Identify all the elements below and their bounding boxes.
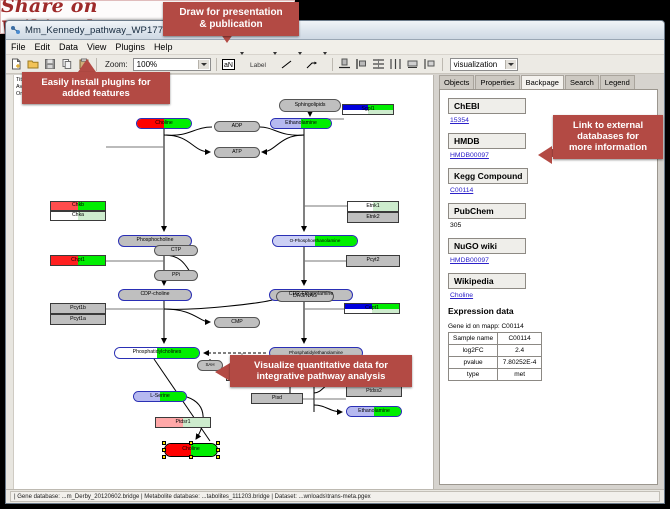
pathway-node-phosphatidylcholines[interactable]: Phosphatidylcholines <box>114 347 200 359</box>
xref-title-pubchem: PubChem <box>448 203 526 219</box>
selection-handle[interactable] <box>216 455 220 459</box>
title-bar: Mm_Kennedy_pathway_WP1771_45176.gpml <box>6 21 664 40</box>
pathway-node-ptdsr1[interactable]: Ptdsr1 <box>155 417 211 428</box>
gene-id-line: Gene id on mapp: C00114 <box>448 323 649 330</box>
pathway-node-label: Ethanolamine <box>358 409 390 414</box>
pathway-node-ethanolamine-br[interactable]: Ethanolamine <box>346 406 402 417</box>
visualization-value: visualization <box>454 60 498 69</box>
menu-plugins[interactable]: Plugins <box>115 42 145 52</box>
expression-key: type <box>449 369 498 381</box>
menu-data[interactable]: Data <box>59 42 78 52</box>
callout-viz-arrow <box>215 363 230 381</box>
pathvisio-app-icon <box>10 25 21 36</box>
pathway-node-l-serine-left[interactable]: L-Serine <box>133 391 187 402</box>
pathway-node-ethanolamine[interactable]: Ethanolamine <box>270 118 332 129</box>
pathway-node-label: SAH <box>205 363 214 367</box>
pathway-diagram[interactable]: SphingolipidsCholineEthanolamineSgpl1ADP… <box>14 75 434 489</box>
svg-text:Label: Label <box>250 62 266 69</box>
pathway-node-label: Choline <box>155 121 173 126</box>
line-dropdown-icon[interactable] <box>297 55 302 73</box>
pathway-canvas[interactable]: Title: Availab Organi <box>6 75 434 489</box>
chevron-down-icon[interactable] <box>198 60 209 69</box>
pathway-node-atp[interactable]: ATP <box>214 147 260 158</box>
datanode-dropdown-icon[interactable] <box>239 55 244 73</box>
label-tool-icon[interactable]: Label <box>247 57 269 71</box>
menu-edit[interactable]: Edit <box>35 42 51 52</box>
svg-text:aN: aN <box>224 62 233 69</box>
pathway-node-label: Ptdsr1 <box>176 420 191 425</box>
expression-value: 2.4 <box>498 345 542 357</box>
pathway-node-label: PPi <box>172 273 180 278</box>
callout-plugins-line1: Easily install plugins for <box>26 77 166 88</box>
datanode-icon[interactable]: aN <box>222 57 236 71</box>
pathway-node-adp[interactable]: ADP <box>214 121 260 132</box>
pathway-node-o-phosphoethanolamine[interactable]: O-Phosphoethanolamine <box>272 235 358 247</box>
menu-help[interactable]: Help <box>154 42 173 52</box>
pathway-node-label: Phosphocholine <box>137 238 174 243</box>
callout-draw-line2: & publication <box>167 19 295 31</box>
expression-row: Sample nameC00114 <box>449 333 542 345</box>
pathway-node-label: Pisd <box>272 396 282 401</box>
callout-link-line3: more information <box>557 142 659 153</box>
pathway-node-chpt1[interactable]: Chpt1 <box>50 255 106 266</box>
callout-link-line1: Link to external <box>557 120 659 131</box>
interaction-dropdown-icon[interactable] <box>322 55 327 73</box>
menu-file[interactable]: File <box>11 42 26 52</box>
pathway-node-pcyt1b[interactable]: Pcyt1b <box>50 303 106 314</box>
expression-value: 7.80252E-4 <box>498 357 542 369</box>
expression-row: log2FC2.4 <box>449 345 542 357</box>
expression-row: pvalue7.80252E-4 <box>449 357 542 369</box>
toolbar-separator-1 <box>96 58 97 71</box>
toolbar-separator-2 <box>216 58 217 71</box>
pathway-node-label: Chpt1 <box>71 258 85 263</box>
line-tool-icon[interactable] <box>280 57 294 71</box>
stack-vertically-icon[interactable] <box>372 57 386 71</box>
xref-link-wikipedia[interactable]: Choline <box>450 292 649 299</box>
pathway-node-cdp-choline[interactable]: CDP-choline <box>118 289 192 301</box>
pathway-node-sphingolipids[interactable]: Sphingolipids <box>279 99 341 112</box>
xref-link-nugo-wiki[interactable]: HMDB00097 <box>450 257 649 264</box>
callout-viz-line2: integrative pathway analysis <box>234 371 408 382</box>
label-dropdown-icon[interactable] <box>272 55 277 73</box>
callout-draw-line1: Draw for presentation <box>167 7 295 19</box>
pathway-node-label: CMP <box>231 320 243 325</box>
tab-search[interactable]: Search <box>565 75 599 89</box>
pathway-node-label: Sphingolipids <box>295 103 326 108</box>
tab-objects[interactable]: Objects <box>439 75 474 89</box>
expression-row: typemet <box>449 369 542 381</box>
pathway-node-pcyt1a[interactable]: Pcyt1a <box>50 314 106 325</box>
distribute-icon[interactable] <box>389 57 403 71</box>
xref-title-hmdb: HMDB <box>448 133 526 149</box>
pathway-node-label: CTP <box>171 248 181 253</box>
expression-data-table: Sample nameC00114log2FC2.4pvalue7.80252E… <box>448 332 542 381</box>
callout-plugins-line2: added features <box>26 88 166 99</box>
pathway-node-cept1[interactable]: Cept1 <box>344 303 400 314</box>
pathway-node-label: Cept1 <box>365 306 379 311</box>
tab-properties[interactable]: Properties <box>475 75 519 89</box>
pathway-node-label: Pcyt2 <box>367 258 380 263</box>
expression-value: met <box>498 369 542 381</box>
pathway-node-label: Ptdss2 <box>366 389 382 394</box>
zoom-label: Zoom: <box>105 60 128 69</box>
selection-handle[interactable] <box>162 455 166 459</box>
zoom-combo[interactable]: 100% <box>133 58 211 71</box>
callout-viz-line1: Visualize quantitative data for <box>234 360 408 371</box>
selection-handle[interactable] <box>216 448 220 452</box>
expression-value: C00114 <box>498 333 542 345</box>
pathway-node-choline_top[interactable]: Choline <box>136 118 192 129</box>
interaction-tool-icon[interactable] <box>305 57 319 71</box>
pathway-node-cmp[interactable]: CMP <box>214 317 260 328</box>
save-icon[interactable] <box>43 57 57 71</box>
pathway-node-label: Pcyt1a <box>70 317 86 322</box>
pathway-node-ctp[interactable]: CTP <box>154 245 198 256</box>
selection-handle[interactable] <box>162 441 166 445</box>
callout-plugins-arrow <box>78 59 96 72</box>
copy-icon[interactable] <box>60 57 74 71</box>
order-icon[interactable] <box>423 57 437 71</box>
tab-legend[interactable]: Legend <box>600 75 635 89</box>
callout-easily-install-plugins: Easily install plugins for added feature… <box>22 72 170 104</box>
expression-key: Sample name <box>449 333 498 345</box>
align-top-icon[interactable] <box>338 57 352 71</box>
callout-link-to-external-databases: Link to external databases for more info… <box>553 115 663 159</box>
tab-backpage[interactable]: Backpage <box>521 75 564 90</box>
pathway-edges <box>14 75 434 489</box>
xref-title-wikipedia: Wikipedia <box>448 273 526 289</box>
pathway-node-label: Chkb <box>72 203 84 208</box>
pathway-node-label: L-Serine <box>150 394 170 399</box>
pathway-node-label: Pcyt1b <box>70 306 86 311</box>
zoom-value: 100% <box>137 60 157 69</box>
toolbar-separator-3 <box>332 58 333 71</box>
xref-title-chebi: ChEBI <box>448 98 526 114</box>
canvas-ruler-gutter <box>6 75 14 489</box>
callout-visualize-quantitative-data: Visualize quantitative data for integrat… <box>230 355 412 387</box>
menu-view[interactable]: View <box>87 42 106 52</box>
pathway-node-pcyt2[interactable]: Pcyt2 <box>346 255 400 267</box>
pathway-node-etnk2[interactable]: Etnk2 <box>347 212 399 223</box>
group-icon[interactable] <box>406 57 420 71</box>
status-bar: | Gene database: ...m_Derby_20120602.bri… <box>6 489 664 503</box>
pathway-node-label: Etnk2 <box>366 215 379 220</box>
pathway-node-label: Chka <box>72 213 84 218</box>
pathway-node-label: Sgpl1 <box>361 107 374 112</box>
open-folder-icon[interactable] <box>26 57 40 71</box>
callout-link-arrow <box>538 146 552 164</box>
selection-handle[interactable] <box>189 455 193 459</box>
visualization-combo[interactable]: visualization <box>450 58 518 71</box>
status-text: | Gene database: ...m_Derby_20120602.bri… <box>10 491 660 502</box>
pathway-node-label: ADP <box>232 124 243 129</box>
pathway-node-label: O-Phosphoethanolamine <box>290 239 341 244</box>
xref-title-kegg-compound: Kegg Compound <box>448 168 528 184</box>
pathway-node-label: Phosphatidylcholines <box>133 350 182 355</box>
pathway-node-label: ATP <box>232 150 242 155</box>
expression-key: log2FC <box>449 345 498 357</box>
pathway-node-pisd[interactable]: Pisd <box>251 393 303 404</box>
pathway-node-label: Etnk1 <box>366 204 379 209</box>
xref-value-pubchem: 305 <box>450 222 649 229</box>
pathway-node-label: Ethanolamine <box>285 121 317 126</box>
pathway-node-chkb[interactable]: Chkb <box>50 201 106 211</box>
selection-handle[interactable] <box>162 448 166 452</box>
new-file-icon[interactable] <box>9 57 23 71</box>
expression-key: pvalue <box>449 357 498 369</box>
xref-link-kegg-compound[interactable]: C00114 <box>450 187 649 194</box>
selection-handle[interactable] <box>189 441 193 445</box>
pathway-node-sgpl1[interactable]: Sgpl1 <box>342 104 394 115</box>
pathway-node-label: Choline <box>182 447 200 452</box>
callout-link-line2: databases for <box>557 131 659 142</box>
pathway-node-label: CDP-choline <box>140 292 169 297</box>
xref-title-nugo-wiki: NuGO wiki <box>448 238 526 254</box>
expression-data-heading: Expression data <box>448 306 649 316</box>
visualization-chevron-down-icon[interactable] <box>505 60 516 69</box>
pathway-node-ptdss2[interactable]: Ptdss2 <box>346 386 402 397</box>
selection-handle[interactable] <box>216 441 220 445</box>
pathway-node-etnk1[interactable]: Etnk1 <box>347 201 399 212</box>
pathway-node-chka[interactable]: Chka <box>50 211 106 221</box>
side-panel-tabs: Objects Properties Backpage Search Legen… <box>434 75 664 89</box>
pathway-node-ppi[interactable]: PPi <box>154 270 198 281</box>
toolbar-separator-4 <box>442 58 443 71</box>
align-left-icon[interactable] <box>355 57 369 71</box>
callout-draw-for-presentation: Draw for presentation & publication <box>163 2 299 36</box>
pathway-node-label: DAG/NAG <box>293 294 317 299</box>
menu-bar: File Edit Data View Plugins Help <box>6 40 664 55</box>
